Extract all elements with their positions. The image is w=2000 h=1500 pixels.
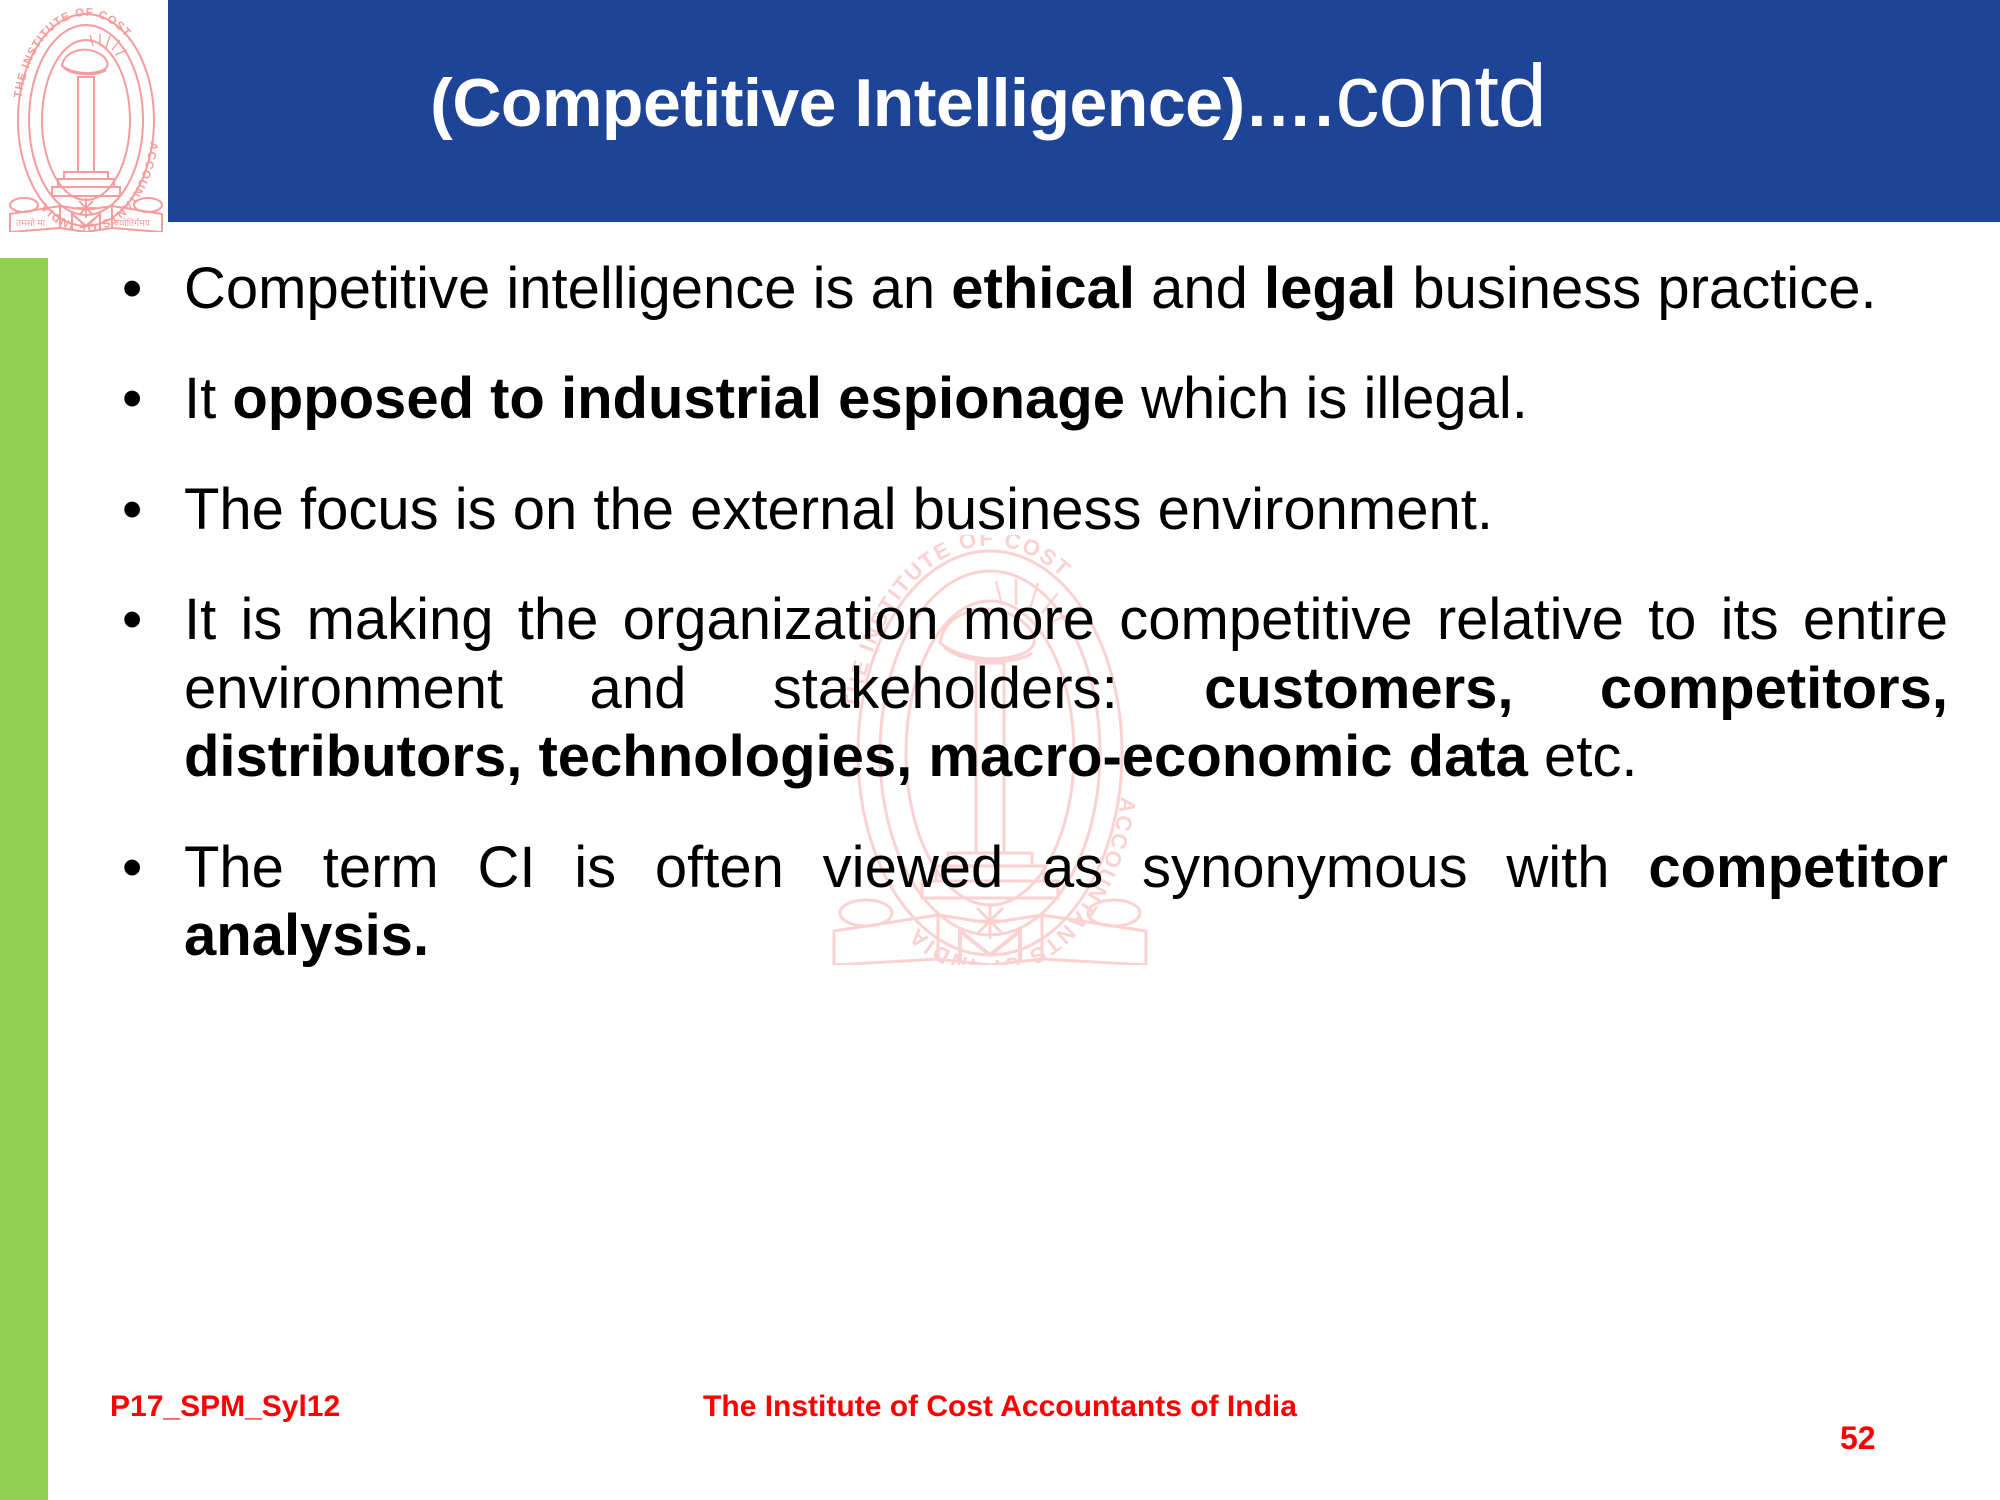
segment-plain: and bbox=[1135, 256, 1264, 321]
list-item-text: The focus is on the external business en… bbox=[184, 476, 1948, 544]
bullet-marker-icon: • bbox=[108, 834, 184, 902]
list-item-text: The term CI is often viewed as synonymou… bbox=[184, 834, 1948, 971]
list-item-text: It is making the organization more compe… bbox=[184, 586, 1948, 791]
bullet-marker-icon: • bbox=[108, 476, 184, 544]
segment-plain: It bbox=[184, 366, 232, 431]
page-title-dots: …. bbox=[1245, 65, 1336, 141]
list-item: • The focus is on the external business … bbox=[108, 476, 1948, 544]
page-title-main: (Competitive Intelligence) bbox=[430, 65, 1244, 141]
segment-plain: etc. bbox=[1528, 724, 1638, 789]
segment-plain: The focus is on the external business en… bbox=[184, 477, 1493, 542]
list-item: • The term CI is often viewed as synonym… bbox=[108, 834, 1948, 971]
left-accent-bar bbox=[0, 258, 48, 1500]
page-title-contd: contd bbox=[1336, 46, 1546, 145]
bullet-marker-icon: • bbox=[108, 586, 184, 654]
list-item-text: Competitive intelligence is an ethical a… bbox=[184, 255, 1948, 323]
segment-plain: Competitive intelligence is an bbox=[184, 256, 951, 321]
institute-logo-icon: THE INSTITUTE OF COST ACCOUNTANTS OF IND… bbox=[2, 2, 170, 232]
bullet-marker-icon: • bbox=[108, 255, 184, 323]
segment-bold: opposed to industrial espionage bbox=[232, 366, 1125, 431]
logo-motto-left: तमसो मा bbox=[16, 217, 46, 228]
segment-bold: legal bbox=[1264, 256, 1396, 321]
footer-organization: The Institute of Cost Accountants of Ind… bbox=[0, 1390, 2000, 1424]
list-item: • It opposed to industrial espionage whi… bbox=[108, 365, 1948, 433]
page-title: (Competitive Intelligence)….contd bbox=[168, 52, 1808, 140]
segment-plain: which is illegal. bbox=[1125, 366, 1528, 431]
bullet-marker-icon: • bbox=[108, 365, 184, 433]
segment-bold: ethical bbox=[951, 256, 1135, 321]
list-item-text: It opposed to industrial espionage which… bbox=[184, 365, 1948, 433]
bullet-list: • Competitive intelligence is an ethical… bbox=[108, 255, 1948, 1013]
list-item: • Competitive intelligence is an ethical… bbox=[108, 255, 1948, 323]
segment-plain: The term CI is often viewed as synonymou… bbox=[184, 835, 1648, 900]
logo-motto-right: ज्योतिर्गमय bbox=[114, 217, 151, 228]
segment-plain: business practice. bbox=[1396, 256, 1876, 321]
page-number: 52 bbox=[1840, 1420, 1876, 1457]
list-item: • It is making the organization more com… bbox=[108, 586, 1948, 791]
